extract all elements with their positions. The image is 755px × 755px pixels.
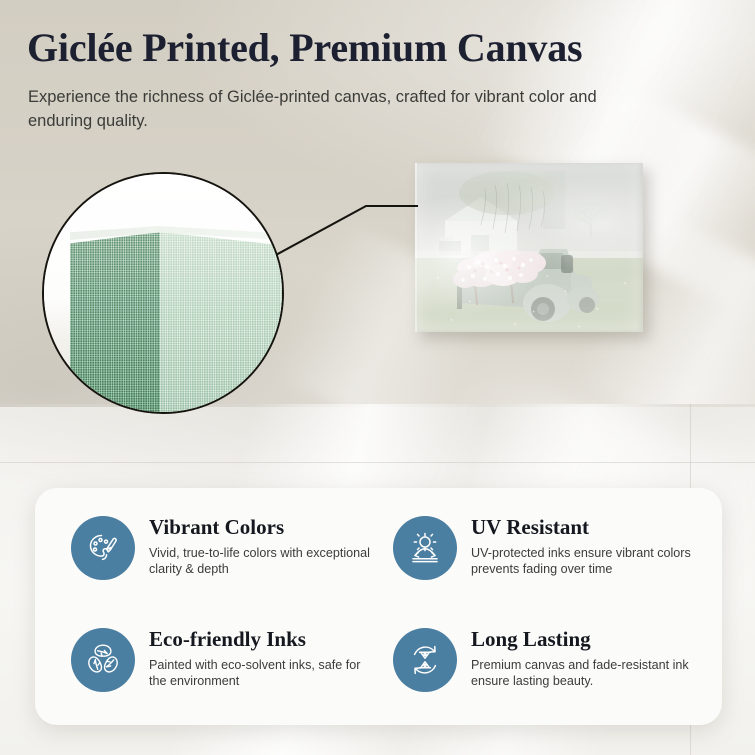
product-feature-graphic: Giclée Printed, Premium Canvas Experienc… [0, 0, 755, 755]
hourglass-cycle-icon [393, 628, 457, 692]
eco-leaves-recycle-icon [71, 628, 135, 692]
feature-title: Vibrant Colors [149, 516, 381, 540]
weave-texture [70, 232, 160, 414]
feature-description: Vivid, true-to-life colors with exceptio… [149, 545, 381, 579]
feature-item-long-lasting: Long Lasting Premium canvas and fade-res… [393, 626, 711, 692]
canvas-front-face [160, 232, 282, 414]
feature-text: UV Resistant UV-protected inks ensure vi… [471, 514, 703, 578]
feature-panel: Vibrant Colors Vivid, true-to-life color… [35, 488, 722, 725]
feature-text: Vibrant Colors Vivid, true-to-life color… [149, 514, 381, 578]
feature-description: Painted with eco-solvent inks, safe for … [149, 657, 381, 691]
feature-text: Long Lasting Premium canvas and fade-res… [471, 626, 703, 690]
canvas-weave-closeup [42, 172, 284, 414]
feature-item-uv-resistant: UV Resistant UV-protected inks ensure vi… [393, 514, 711, 580]
feature-description: UV-protected inks ensure vibrant colors … [471, 545, 703, 579]
feature-item-vibrant-colors: Vibrant Colors Vivid, true-to-life color… [71, 514, 389, 580]
artwork-gallery-wrap-edge [415, 163, 643, 332]
page-title: Giclée Printed, Premium Canvas [27, 26, 707, 70]
weave-texture [160, 232, 282, 414]
canvas-corner-sample [70, 232, 282, 414]
feature-item-eco-friendly-inks: Eco-friendly Inks Painted with eco-solve… [71, 626, 389, 692]
tile-seam [0, 462, 755, 463]
uv-sun-shield-icon [393, 516, 457, 580]
feature-title: UV Resistant [471, 516, 703, 540]
feature-title: Long Lasting [471, 628, 703, 652]
canvas-side-face [70, 232, 160, 414]
canvas-artwork [415, 163, 643, 332]
paint-palette-icon [71, 516, 135, 580]
feature-text: Eco-friendly Inks Painted with eco-solve… [149, 626, 381, 690]
page-subtitle: Experience the richness of Giclée-printe… [28, 86, 653, 134]
feature-description: Premium canvas and fade-resistant ink en… [471, 657, 703, 691]
feature-title: Eco-friendly Inks [149, 628, 381, 652]
